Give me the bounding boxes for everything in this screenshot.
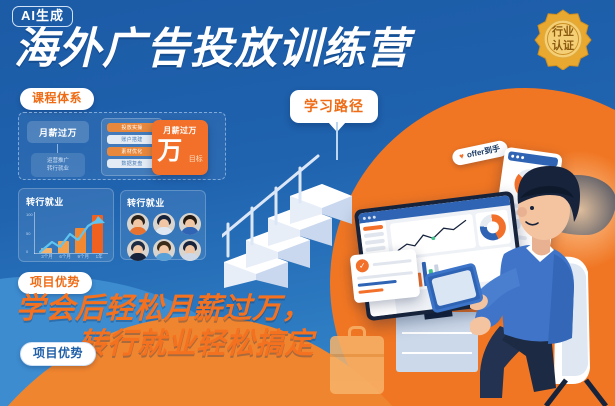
label-learning-path: 学习路径 — [290, 90, 378, 123]
salary-highlight-card: 月薪过万 万 目标 — [152, 120, 208, 175]
window-dot-icon — [368, 216, 371, 219]
window-dot-icon — [363, 216, 366, 219]
avatar — [179, 213, 201, 235]
drawer-line — [402, 332, 472, 334]
label-course-system: 课程体系 — [20, 88, 94, 110]
chart-x-label: 6个月 — [59, 254, 71, 262]
certification-text-line1: 行业 — [551, 24, 574, 38]
chart-x-label: 3个月 — [41, 254, 53, 262]
certification-seal-icon: 行业 认证 — [532, 8, 594, 70]
notification-line — [358, 288, 383, 294]
chart-x-label: 1年 — [96, 254, 103, 262]
window-dot-icon — [373, 215, 376, 218]
notification-line — [358, 280, 397, 287]
chart-x-axis-labels: 3个月6个月9个月1年 — [38, 254, 106, 262]
drawer-line — [402, 352, 472, 354]
sidebar-row — [365, 239, 385, 245]
headline-line-2: 转行就业轻松搞定 — [78, 327, 346, 362]
chart-title: 转行就业 — [26, 195, 106, 208]
chart-plot-area: 100500 3个月6个月9个月1年 — [26, 212, 108, 262]
avatar-card-title: 转行就业 — [127, 196, 199, 209]
chart-x-label: 9个月 — [78, 254, 90, 262]
students-avatar-card: 转行就业 — [120, 190, 206, 260]
check-icon: ✓ — [355, 259, 369, 273]
label-project-advantage-top: 项目优势 — [18, 272, 92, 294]
flow-row: 素材优化 — [107, 147, 157, 156]
flow-row: 数据复盘 — [107, 159, 157, 168]
flow-node-main: 月薪过万 — [27, 121, 89, 143]
label-project-advantage-bottom: 项目优势 — [20, 342, 96, 366]
flow-node-sub: 运营推广 转行就业 — [31, 153, 85, 177]
desk-drawer-unit — [396, 312, 478, 372]
headline-line-1: 学会后轻松月薪过万， — [16, 293, 311, 325]
salary-card-title: 月薪过万 — [152, 125, 208, 136]
avatar — [153, 213, 175, 235]
certification-text-line2: 认证 — [552, 38, 574, 52]
poster-canvas: AI生成 海外广告投放训练营 行业 认证 课程体系 月薪过万 运营推广 转行就业… — [0, 0, 615, 406]
page-title: 海外广告投放训练营 — [14, 28, 410, 71]
sidebar-row — [363, 225, 383, 231]
avatar — [127, 213, 149, 235]
avatar — [179, 239, 201, 261]
flow-connector — [57, 144, 58, 153]
avatar — [153, 239, 175, 261]
flow-row: 投放实操 — [107, 123, 157, 132]
sidebar-row — [364, 232, 384, 238]
suitcase-handle — [348, 326, 366, 338]
notification-head: ✓ — [355, 254, 412, 273]
tablet-screen — [431, 270, 477, 307]
person-illustration — [470, 150, 615, 406]
salary-card-unit: 目标 — [189, 154, 203, 164]
flow-row: 账户搭建 — [107, 135, 157, 144]
floating-notification-card: ✓ — [350, 249, 421, 304]
salary-card-value: 万 — [157, 139, 182, 164]
notification-line — [357, 271, 413, 280]
avatar — [127, 239, 149, 261]
avatar-grid — [127, 213, 199, 261]
employment-chart-card: 转行就业 100500 3个月6个月9个月1年 — [18, 188, 114, 262]
stairs-illustration — [222, 128, 354, 288]
heart-icon: ♥ — [458, 151, 465, 161]
